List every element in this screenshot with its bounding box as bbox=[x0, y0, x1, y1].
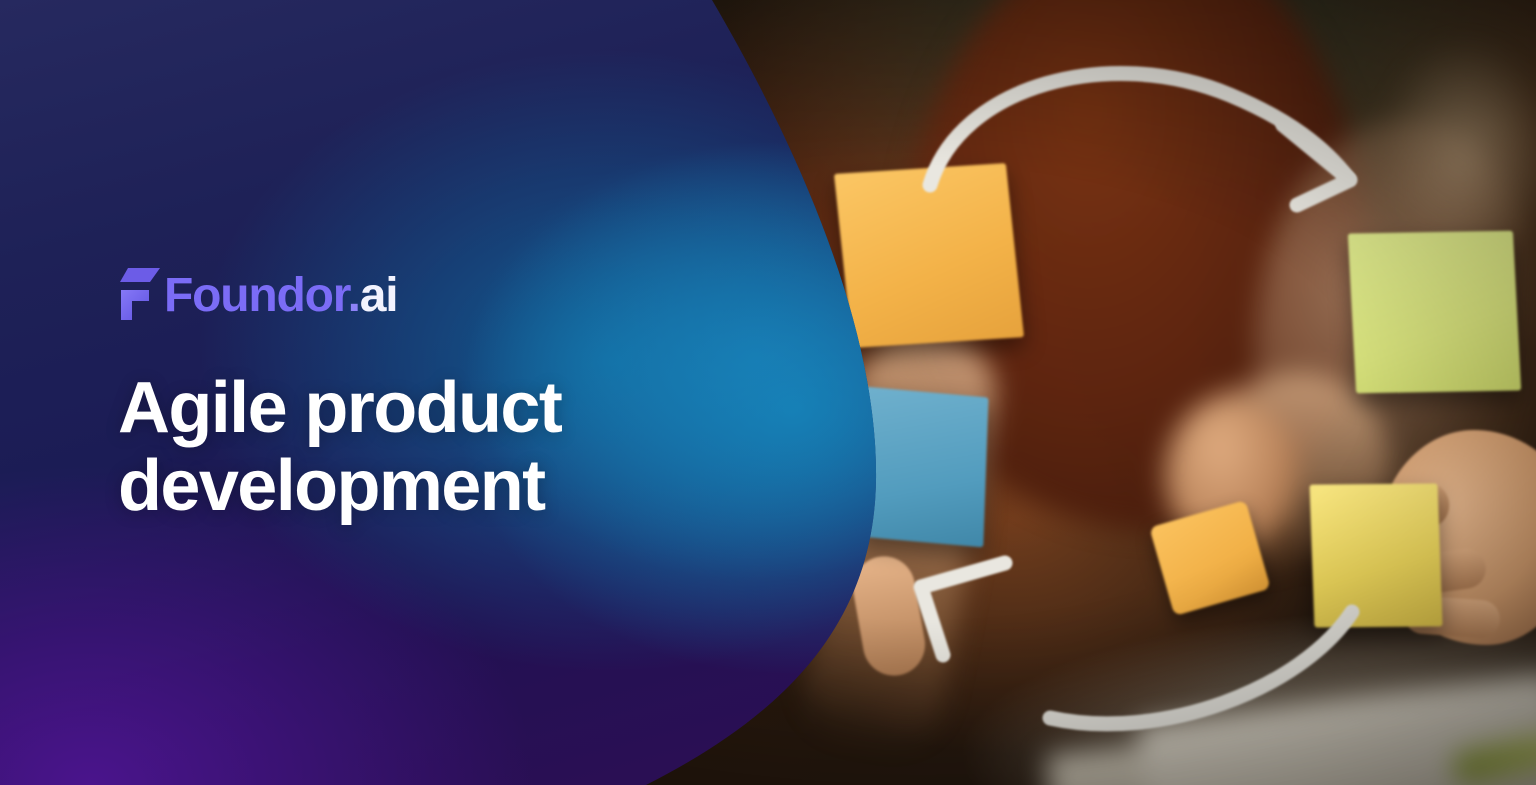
brand-name-primary: Foundor bbox=[164, 269, 348, 322]
brand-name-suffix: ai bbox=[360, 269, 398, 322]
foundor-f-mark-icon bbox=[118, 266, 162, 322]
brand-wordmark: Foundor.ai bbox=[164, 272, 397, 320]
headline-line-2: development bbox=[118, 446, 545, 526]
brand-logo[interactable]: Foundor.ai bbox=[118, 262, 718, 322]
brand-name-dot: . bbox=[348, 269, 360, 322]
hero-content: Foundor.ai Agile product development bbox=[118, 262, 718, 526]
headline-line-1: Agile product bbox=[118, 368, 561, 448]
page-title: Agile product development bbox=[118, 370, 678, 526]
hero-banner: Foundor.ai Agile product development bbox=[0, 0, 1536, 785]
